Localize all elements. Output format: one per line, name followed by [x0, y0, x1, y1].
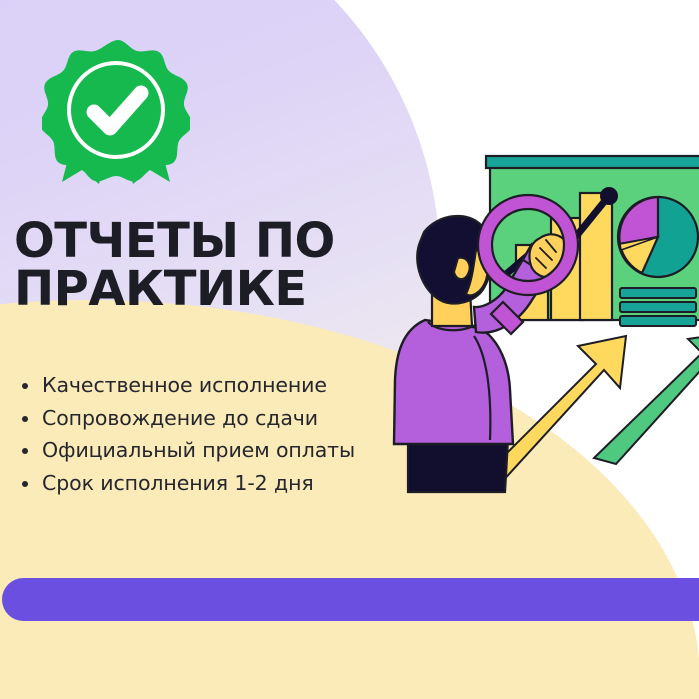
- list-item: Качественное исполнение: [14, 372, 414, 399]
- verified-rosette-check-icon: [42, 36, 190, 188]
- feature-list: Качественное исполнение Сопровождение до…: [14, 372, 414, 503]
- poster-canvas: Отчеты по практике Качественное исполнен…: [0, 0, 699, 699]
- legend-bars: [620, 288, 696, 326]
- bottom-accent-bar: [2, 578, 699, 621]
- analyst-with-charts-illustration: [380, 140, 699, 500]
- pie-chart: [618, 197, 698, 277]
- list-item: Срок исполнения 1-2 дня: [14, 470, 414, 497]
- list-item: Официальный прием оплаты: [14, 437, 414, 464]
- page-title: Отчеты по практике: [14, 218, 374, 313]
- list-item: Сопровождение до сдачи: [14, 405, 414, 432]
